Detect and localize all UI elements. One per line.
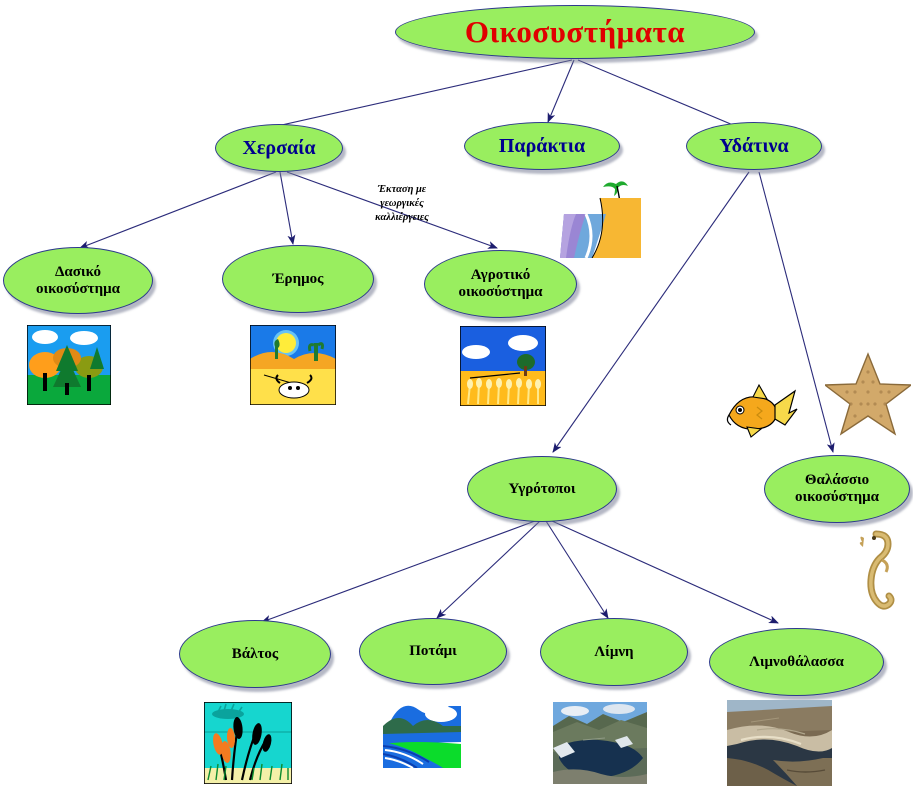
node-label: Βάλτος: [226, 646, 285, 663]
lake-photo: [553, 702, 647, 784]
node-label: Υγρότοποι: [502, 481, 581, 498]
node-oikosystimata[interactable]: Οικοσυστήματα: [395, 5, 755, 59]
node-potami[interactable]: Ποτάμι: [359, 618, 507, 685]
edge-label-agricultural-land: Έκταση με γεωργικές καλλιέργειες: [352, 183, 452, 225]
node-label: Παράκτια: [493, 135, 591, 157]
node-dasiko-oikosystima[interactable]: Δασικό οικοσύστημα: [3, 247, 153, 314]
node-label: Ποτάμι: [403, 643, 463, 660]
node-valtos[interactable]: Βάλτος: [179, 620, 331, 688]
node-erimos[interactable]: Έρημος: [222, 245, 374, 313]
coastal-ecosystem-image: [556, 176, 641, 258]
river-image: [383, 700, 461, 768]
node-label: Χερσαία: [236, 137, 321, 159]
node-label: Οικοσυστήματα: [459, 15, 691, 50]
starfish-image: [825, 352, 911, 436]
node-limnothalassa[interactable]: Λιμνοθάλασσα: [709, 628, 884, 696]
node-label: Αγροτικό οικοσύστημα: [453, 267, 549, 301]
node-limni[interactable]: Λίμνη: [540, 618, 688, 686]
node-label: Υδάτινα: [713, 135, 794, 157]
node-chersaia[interactable]: Χερσαία: [215, 124, 343, 172]
forest-ecosystem-image: [27, 325, 111, 405]
agricultural-ecosystem-image: [460, 326, 546, 406]
node-label: Δασικό οικοσύστημα: [30, 264, 126, 298]
node-thalassio-oikosystima[interactable]: Θαλάσσιο οικοσύστημα: [764, 455, 910, 523]
node-label: Λίμνη: [588, 644, 639, 661]
node-label: Λιμνοθάλασσα: [743, 654, 850, 671]
node-paraktia[interactable]: Παράκτια: [464, 122, 620, 170]
concept-map-canvas: Οικοσυστήματα Χερσαία Παράκτια Υδάτινα Δ…: [0, 0, 913, 811]
node-ygrotopoi[interactable]: Υγρότοποι: [467, 456, 617, 522]
lagoon-photo: [727, 700, 832, 786]
node-agrotiko-oikosystima[interactable]: Αγροτικό οικοσύστημα: [424, 250, 577, 318]
desert-ecosystem-image: [250, 325, 336, 405]
fish-image: [723, 383, 799, 439]
node-ydatina[interactable]: Υδάτινα: [686, 122, 822, 170]
node-label: Έρημος: [267, 271, 330, 288]
marsh-image: [204, 702, 292, 784]
node-label: Θαλάσσιο οικοσύστημα: [789, 472, 885, 506]
seahorse-image: [854, 528, 900, 620]
